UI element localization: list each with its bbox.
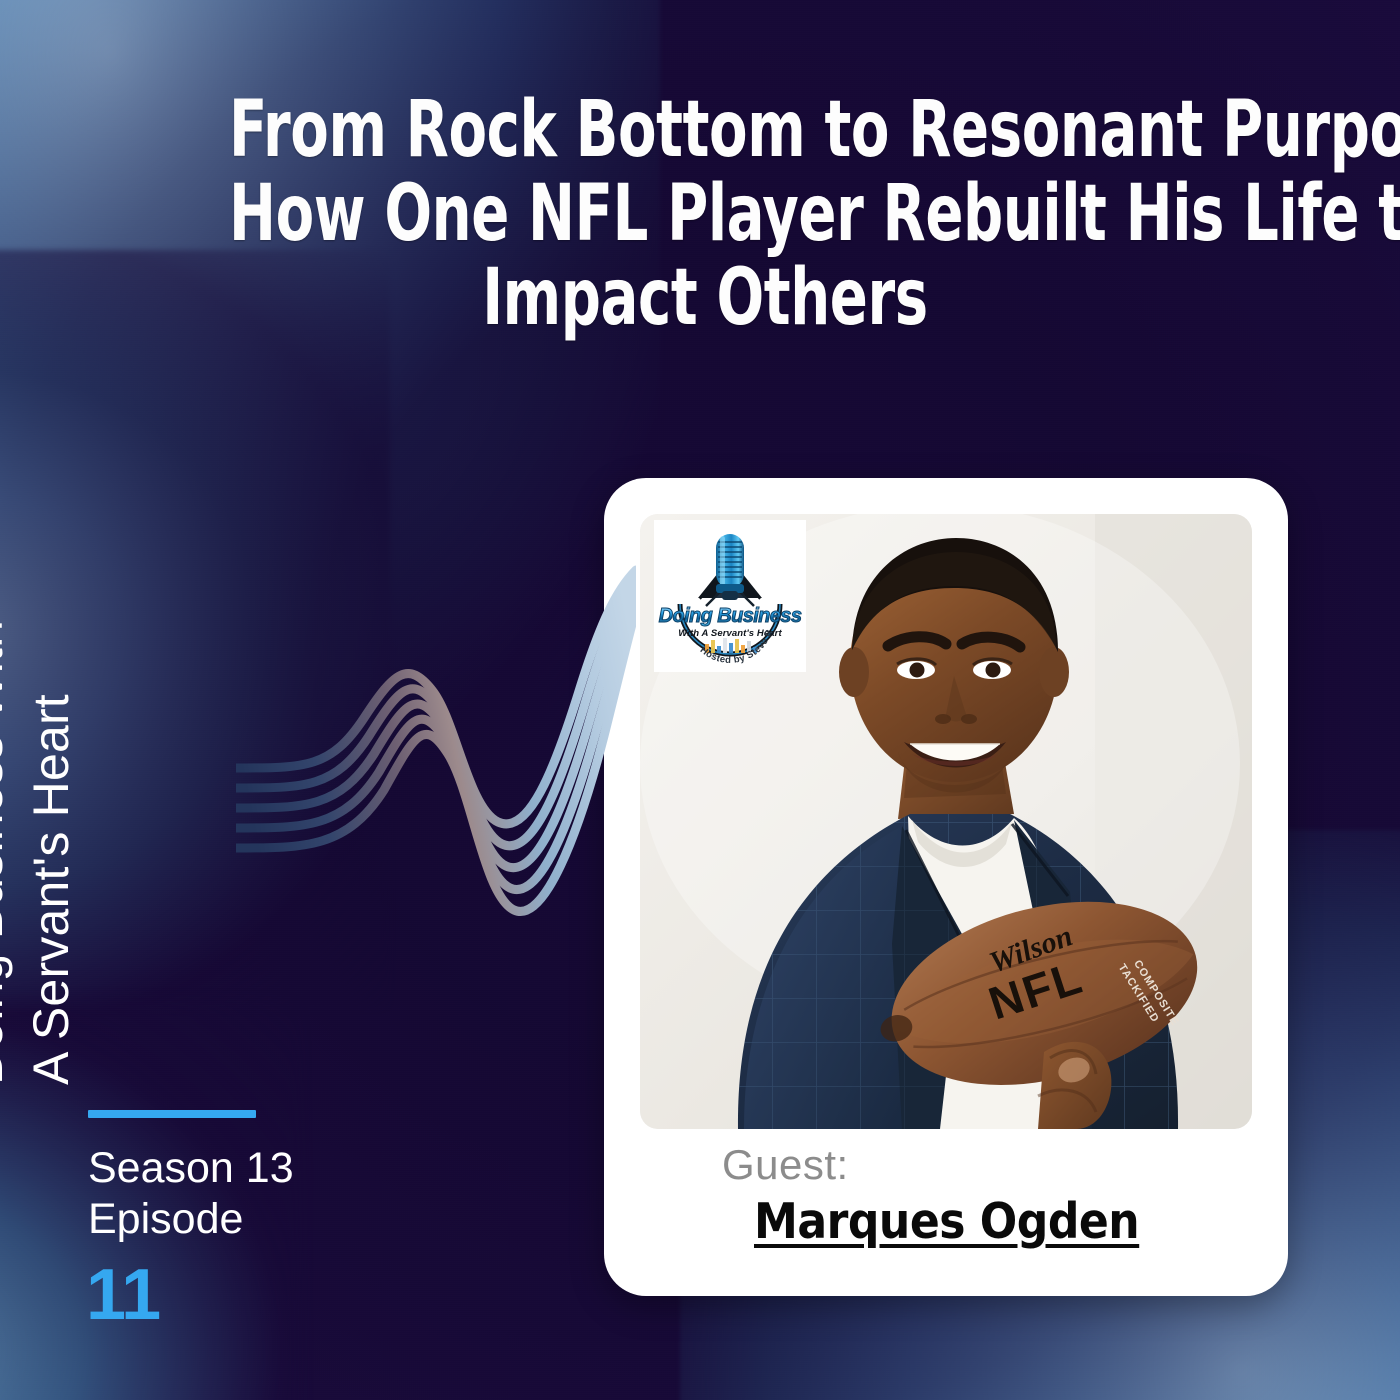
season-label: Season 13: [88, 1143, 294, 1194]
show-title: Doing Business With A Servant's Heart: [84, 455, 254, 1085]
episode-title-line-1: From Rock Bottom to Resonant Purpose: [229, 88, 1181, 172]
show-title-line-2: A Servant's Heart: [18, 455, 84, 1085]
episode-title-line-3: Impact Others: [229, 256, 1181, 340]
episode-number: 11: [86, 1257, 160, 1333]
episode-label: Episode: [88, 1194, 294, 1245]
episode-title: From Rock Bottom to Resonant Purpose How…: [229, 88, 1181, 340]
podcast-cover-art: From Rock Bottom to Resonant Purpose How…: [0, 0, 1400, 1400]
podcast-logo-badge: Doing Business With A Servant's Heart: [654, 520, 806, 672]
accent-rule: [88, 1110, 256, 1118]
guest-card: Wilson NFL TACKIFIED COMPOSITE: [604, 478, 1288, 1296]
show-title-line-1: Doing Business With: [0, 455, 18, 1085]
episode-meta: Season 13 Episode: [88, 1143, 294, 1245]
episode-title-line-2: How One NFL Player Rebuilt His Life to: [229, 172, 1181, 256]
sound-wave-decoration: [236, 540, 636, 920]
svg-text:Doing Business: Doing Business: [659, 605, 802, 627]
guest-label: Guest:: [722, 1142, 849, 1188]
guest-photo: Wilson NFL TACKIFIED COMPOSITE: [640, 514, 1252, 1129]
guest-name: Marques Ogden: [754, 1194, 1139, 1250]
